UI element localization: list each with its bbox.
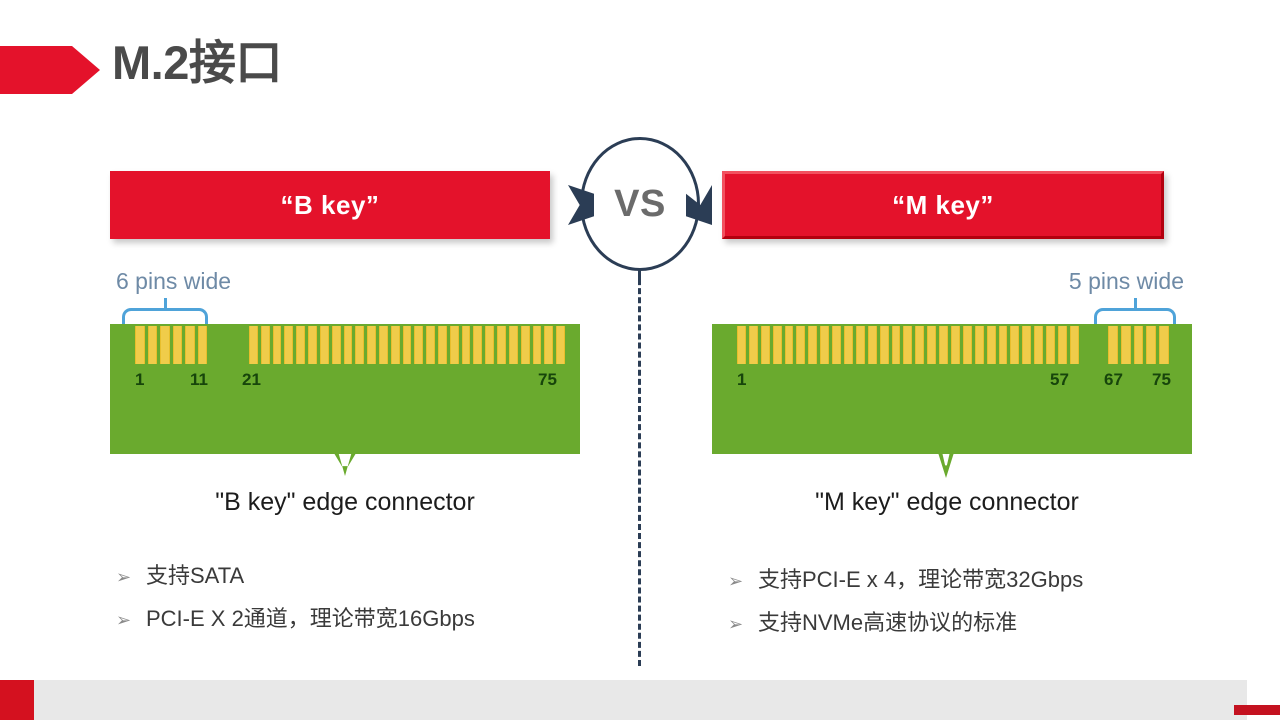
pin — [332, 326, 341, 364]
pin — [426, 326, 435, 364]
arrow-bullet-icon: ➢ — [116, 610, 146, 631]
footer-accent-left — [0, 680, 34, 720]
pin — [497, 326, 506, 364]
list-item: ➢ 支持NVMe高速协议的标准 — [728, 605, 1208, 637]
pin — [261, 326, 270, 364]
pin — [1108, 326, 1118, 364]
b-key-caption: "B key" edge connector — [110, 488, 580, 517]
pin — [198, 326, 208, 364]
pin — [450, 326, 459, 364]
footer-accent-right — [1234, 705, 1280, 715]
pin — [868, 326, 877, 364]
b-key-pin-number-21: 21 — [242, 370, 261, 390]
slide-canvas: M.2接口 “B key” “M key” VS 6 pins wide — [0, 0, 1280, 720]
pin — [796, 326, 805, 364]
m-key-bottom-notch-icon — [924, 450, 968, 478]
pin — [1121, 326, 1131, 364]
arrow-bullet-icon: ➢ — [728, 571, 758, 592]
pin — [880, 326, 889, 364]
pin — [939, 326, 948, 364]
pin — [785, 326, 794, 364]
m-key-pin-number-67: 67 — [1104, 370, 1123, 390]
list-item: ➢ 支持PCI-E x 4，理论带宽32Gbps — [728, 562, 1208, 594]
pin — [273, 326, 282, 364]
footer-bar — [0, 680, 1247, 720]
arrow-bullet-icon: ➢ — [728, 614, 758, 635]
pin — [414, 326, 423, 364]
pin — [1159, 326, 1169, 364]
m-key-pin-bank-1 — [734, 324, 1082, 366]
pin — [975, 326, 984, 364]
pin — [473, 326, 482, 364]
pin — [379, 326, 388, 364]
pin — [320, 326, 329, 364]
pin — [1046, 326, 1055, 364]
pin — [1134, 326, 1144, 364]
pin — [832, 326, 841, 364]
b-key-banner: “B key” — [110, 171, 550, 239]
list-item-label: 支持SATA — [146, 558, 244, 590]
pin — [1010, 326, 1019, 364]
pin — [438, 326, 447, 364]
pin — [344, 326, 353, 364]
m-key-connector-diagram: 5 pins wide 1 — [712, 262, 1192, 522]
pin — [761, 326, 770, 364]
pin — [462, 326, 471, 364]
b-key-brace-tick-icon — [164, 298, 167, 309]
list-item: ➢ PCI-E X 2通道，理论带宽16Gbps — [116, 601, 586, 633]
m-key-pin-number-1: 1 — [737, 370, 746, 390]
b-key-pin-bank-1 — [132, 324, 210, 366]
pin — [249, 326, 258, 364]
pin — [1146, 326, 1156, 364]
pin — [367, 326, 376, 364]
pin — [773, 326, 782, 364]
pin — [173, 326, 183, 364]
pin — [903, 326, 912, 364]
list-item-label: PCI-E X 2通道，理论带宽16Gbps — [146, 601, 475, 633]
pin — [927, 326, 936, 364]
pin — [148, 326, 158, 364]
pin — [856, 326, 865, 364]
m-key-bullet-list: ➢ 支持PCI-E x 4，理论带宽32Gbps ➢ 支持NVMe高速协议的标准 — [728, 562, 1208, 648]
list-item: ➢ 支持SATA — [116, 558, 586, 590]
pin — [892, 326, 901, 364]
b-key-pin-number-75: 75 — [538, 370, 557, 390]
pin — [509, 326, 518, 364]
pin — [808, 326, 817, 364]
pin — [1058, 326, 1067, 364]
pin — [284, 326, 293, 364]
m-key-pin-number-75: 75 — [1152, 370, 1171, 390]
list-item-label: 支持PCI-E x 4，理论带宽32Gbps — [758, 562, 1083, 594]
pin — [820, 326, 829, 364]
pin — [296, 326, 305, 364]
m-key-brace-tick-icon — [1134, 298, 1137, 309]
pin — [160, 326, 170, 364]
pin — [533, 326, 542, 364]
b-key-pin-number-11: 11 — [190, 370, 208, 390]
pin — [844, 326, 853, 364]
pin — [749, 326, 758, 364]
pin — [355, 326, 364, 364]
list-item-label: 支持NVMe高速协议的标准 — [758, 605, 1017, 637]
pin — [185, 326, 195, 364]
pin — [999, 326, 1008, 364]
m-key-banner: “M key” — [722, 171, 1164, 239]
m-key-pin-bank-2 — [1105, 324, 1172, 366]
pin — [403, 326, 412, 364]
m-key-pin-number-57: 57 — [1050, 370, 1069, 390]
m-key-pins-wide-label: 5 pins wide — [1069, 268, 1184, 295]
pin — [544, 326, 553, 364]
pin — [1070, 326, 1079, 364]
pin — [1034, 326, 1043, 364]
b-key-bullet-list: ➢ 支持SATA ➢ PCI-E X 2通道，理论带宽16Gbps — [116, 558, 586, 644]
pin — [556, 326, 565, 364]
vs-badge: VS — [566, 137, 714, 275]
b-key-pin-bank-2 — [246, 324, 568, 366]
pin — [135, 326, 145, 364]
m-key-caption: "M key" edge connector — [712, 488, 1182, 517]
pin — [987, 326, 996, 364]
pin — [391, 326, 400, 364]
vs-label: VS — [566, 137, 714, 271]
title-arrow-icon — [0, 46, 100, 94]
pin — [1022, 326, 1031, 364]
pin — [737, 326, 746, 364]
page-title: M.2接口 — [112, 36, 282, 90]
pin — [951, 326, 960, 364]
b-key-pins-wide-label: 6 pins wide — [116, 268, 231, 295]
b-key-connector-diagram: 6 pins wide — [110, 262, 580, 522]
pin — [485, 326, 494, 364]
arrow-bullet-icon: ➢ — [116, 567, 146, 588]
pin — [308, 326, 317, 364]
pin — [521, 326, 530, 364]
b-key-pin-number-1: 1 — [135, 370, 144, 390]
pin — [963, 326, 972, 364]
pin — [915, 326, 924, 364]
vertical-dashed-divider — [638, 270, 641, 666]
